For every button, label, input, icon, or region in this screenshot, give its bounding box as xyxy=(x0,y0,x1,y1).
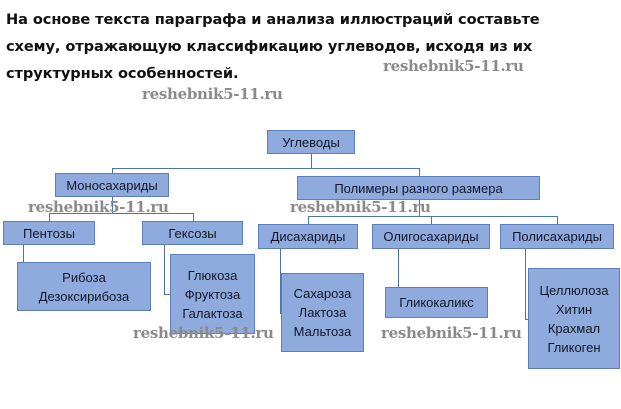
diagram-node-polysaccharides: Полисахариды xyxy=(500,224,614,249)
diagram-node-carbohydrates: Углеводы xyxy=(267,130,355,154)
screenshot-root: На основе текста параграфа и анализа илл… xyxy=(0,0,621,409)
connector-line xyxy=(311,154,312,168)
node-label: Олигосахариды xyxy=(383,227,478,246)
connector-line xyxy=(49,213,50,221)
connector-line xyxy=(164,245,165,294)
diagram-node-polysaccharides-list: ЦеллюлозаХитинКрахмалГликоген xyxy=(528,268,620,369)
node-label: Дисахариды xyxy=(271,227,346,246)
node-label: Гликокаликс xyxy=(399,293,474,312)
node-label: Мальтоза xyxy=(294,322,352,341)
node-label: Сахароза xyxy=(294,284,352,303)
connector-line xyxy=(431,216,432,224)
connector-line xyxy=(193,213,194,221)
node-label: Полисахариды xyxy=(512,227,602,246)
connector-line xyxy=(49,213,193,214)
node-label: Крахмал xyxy=(548,319,600,338)
node-label: Целлюлоза xyxy=(539,281,608,300)
connector-line xyxy=(557,216,558,224)
node-label: Фруктоза xyxy=(185,285,240,304)
node-label: Полимеры разного размера xyxy=(334,179,502,198)
connector-line xyxy=(308,216,309,224)
node-label: Дезоксирибоза xyxy=(39,287,130,306)
diagram-node-hexoses: Гексозы xyxy=(142,221,243,245)
connector-line xyxy=(112,197,113,213)
classification-diagram: УглеводыМоносахаридыПолимеры разного раз… xyxy=(0,0,621,409)
node-label: Галактоза xyxy=(182,304,242,323)
node-label: Гликоген xyxy=(547,338,600,357)
diagram-node-disaccharides-list: СахарозаЛактозаМальтоза xyxy=(281,273,364,352)
node-label: Пентозы xyxy=(23,224,75,243)
connector-line xyxy=(525,249,526,319)
node-label: Моносахариды xyxy=(66,176,157,195)
connector-line xyxy=(419,168,420,176)
diagram-node-oligosaccharides: Олигосахариды xyxy=(372,224,490,249)
diagram-node-polymers: Полимеры разного размера xyxy=(297,176,540,200)
diagram-node-hexoses-list: ГлюкозаФруктозаГалактоза xyxy=(170,254,255,334)
diagram-node-pentoses: Пентозы xyxy=(3,221,95,245)
node-label: Гексозы xyxy=(168,224,216,243)
node-label: Углеводы xyxy=(282,133,340,152)
node-label: Лактоза xyxy=(299,303,347,322)
diagram-node-monosaccharides: Моносахариды xyxy=(55,173,169,197)
connector-line xyxy=(419,200,420,216)
diagram-node-pentoses-list: РибозаДезоксирибоза xyxy=(17,262,151,311)
diagram-node-oligosaccharides-list: Гликокаликс xyxy=(385,287,488,318)
node-label: Хитин xyxy=(556,300,592,319)
node-label: Рибоза xyxy=(62,268,106,287)
node-label: Глюкоза xyxy=(188,266,238,285)
diagram-node-disaccharides: Дисахариды xyxy=(258,224,358,249)
connector-line xyxy=(308,216,557,217)
connector-line xyxy=(112,168,419,169)
